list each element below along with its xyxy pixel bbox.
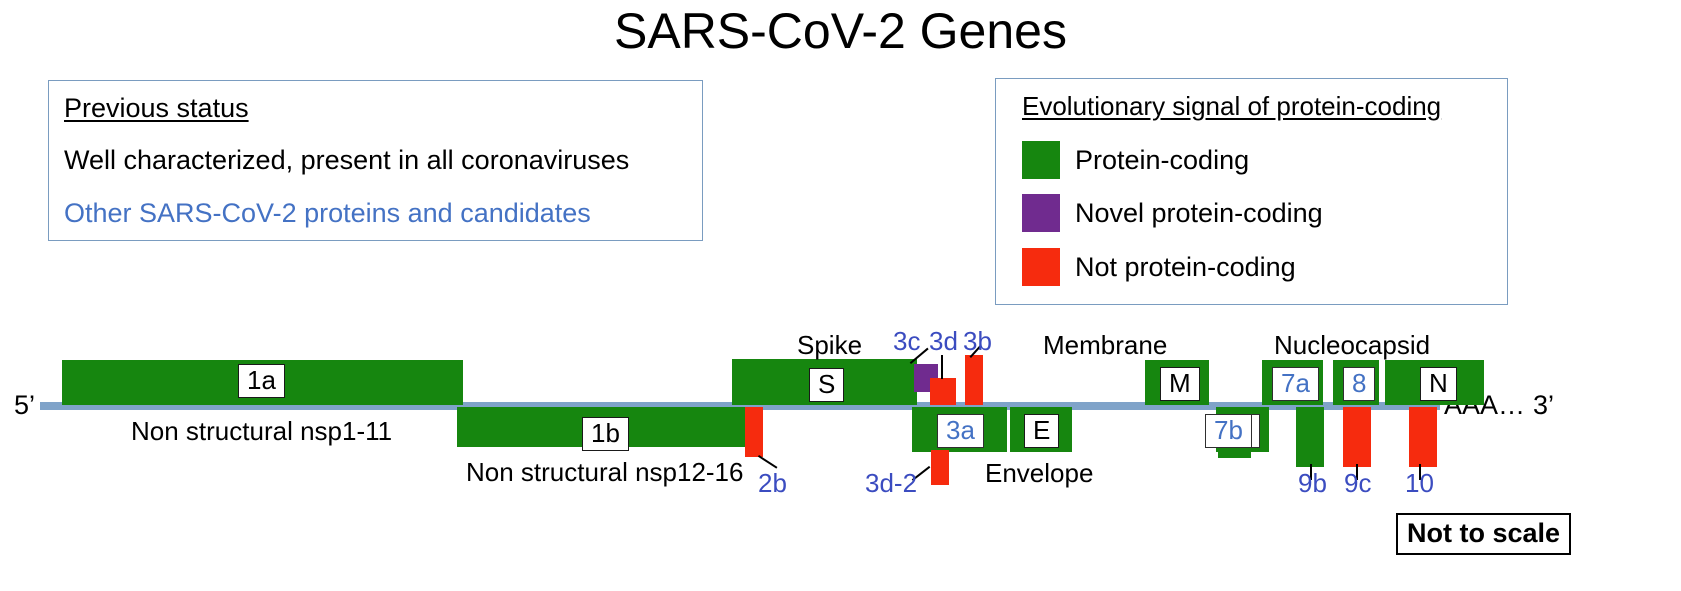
previous-status-heading: Previous status [64,92,249,124]
legend-heading: Evolutionary signal of protein-coding [1022,90,1441,122]
gene-caption-2b: 2b [758,468,787,498]
leader-line-3d [941,355,943,379]
gene-chip-7a: 7a [1272,367,1319,401]
gene-caption-9c: 9c [1344,468,1371,498]
gene-caption-3c: 3c [893,326,920,356]
slide-canvas: SARS-CoV-2 Genes Previous status Well ch… [0,0,1681,591]
gene-block-3d-2[interactable] [931,450,949,485]
gene-caption-9b: 9b [1298,468,1327,498]
leader-line-2b [758,455,778,469]
gene-caption-nucleocapsid: Nucleocapsid [1274,330,1430,360]
gene-caption-envelope: Envelope [985,458,1093,488]
five-prime-label: 5’ [14,390,35,420]
gene-block-3b[interactable] [965,355,983,405]
legend-label-not-protein-coding: Not protein-coding [1075,251,1296,283]
legend-label-novel-protein-coding: Novel protein-coding [1075,197,1323,229]
gene-chip-e: E [1024,414,1059,448]
previous-status-line-other-proteins: Other SARS-CoV-2 proteins and candidates [64,197,591,229]
legend-label-protein-coding: Protein-coding [1075,144,1249,176]
gene-chip-1b: 1b [582,417,629,451]
gene-caption-nsp1-11: Non structural nsp1-11 [131,416,392,446]
previous-status-line-well-characterized: Well characterized, present in all coron… [64,144,629,176]
gene-block-2b[interactable] [745,407,763,457]
gene-caption-nsp12-16: Non structural nsp12-16 [466,457,743,487]
gene-caption-3d: 3d [929,326,958,356]
three-prime-label: 3’ [1533,390,1554,420]
gene-chip-3a: 3a [937,414,984,448]
not-to-scale-badge: Not to scale [1396,513,1571,555]
legend-swatch-not-protein-coding [1022,248,1060,286]
gene-caption-3d-2: 3d-2 [865,468,917,498]
gene-caption-3b: 3b [963,326,992,356]
gene-chip-n: N [1420,367,1457,401]
gene-chip-s: S [809,368,844,402]
gene-caption-membrane: Membrane [1043,330,1167,360]
gene-block-3d[interactable] [930,378,956,405]
gene-block-10[interactable] [1409,407,1437,467]
gene-chip-7b: 7b [1205,414,1252,448]
legend-swatch-novel-protein-coding [1022,194,1060,232]
legend-swatch-protein-coding [1022,141,1060,179]
gene-chip-m: M [1160,367,1200,401]
gene-block-9c[interactable] [1343,407,1371,467]
gene-caption-10: 10 [1405,468,1434,498]
gene-chip-1a: 1a [238,364,285,398]
gene-caption-spike: Spike [797,330,862,360]
gene-chip-8: 8 [1343,367,1375,401]
page-title: SARS-CoV-2 Genes [0,2,1681,60]
gene-block-9b[interactable] [1296,407,1324,467]
